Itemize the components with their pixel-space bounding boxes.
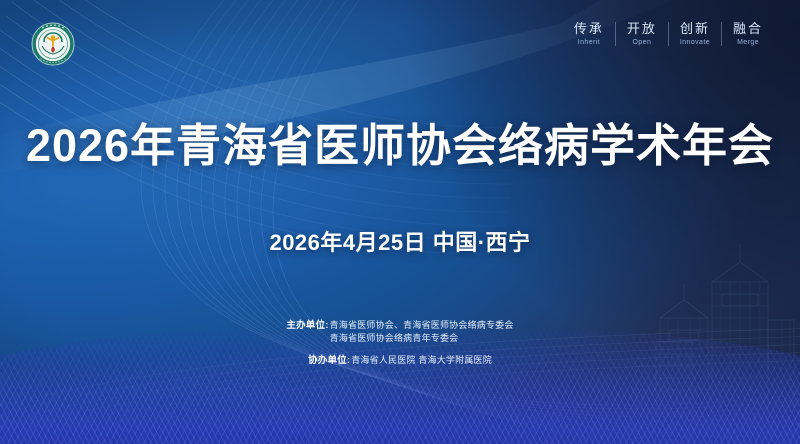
slogan-item-merge: 融合 Merge (721, 22, 774, 46)
slogan-en-open: Open (627, 39, 657, 46)
organizer-value-host-2: 青海省医师协会络病青年专委会 (330, 332, 514, 345)
organizer-value-host-1: 青海省医师协会、青海省医师协会络病专委会 (330, 319, 514, 332)
slogan-item-open: 开放 Open (615, 22, 668, 46)
organizer-value-cohost-1: 青海省人民医院 青海大学附属医院 (351, 354, 492, 367)
slogan-en-inherit: Inherit (574, 39, 604, 46)
organizer-row-cohost: 协办单位: 青海省人民医院 青海大学附属医院 (308, 354, 492, 368)
page-title: 2026年青海省医师协会络病学术年会 (0, 123, 800, 168)
slogan-en-innovate: Innovate (680, 39, 710, 46)
slogan-item-inherit: 传承 Inherit (563, 22, 615, 46)
organizer-label-host: 主办单位: (286, 319, 328, 333)
slogan-group: 传承 Inherit 开放 Open 创新 Innovate 融合 Merge (563, 22, 774, 46)
organizer-block: 主办单位: 青海省医师协会、青海省医师协会络病专委会 青海省医师协会络病青年专委… (0, 319, 800, 368)
slogan-cn-open: 开放 (627, 22, 657, 35)
slogan-item-innovate: 创新 Innovate (668, 22, 721, 46)
slogan-cn-innovate: 创新 (680, 22, 710, 35)
slogan-en-merge: Merge (733, 39, 763, 46)
association-logo (22, 20, 84, 68)
date-location-subtitle: 2026年4月25日 中国·西宁 (0, 232, 800, 254)
slogan-cn-inherit: 传承 (574, 22, 604, 35)
organizer-values-host: 青海省医师协会、青海省医师协会络病专委会 青海省医师协会络病青年专委会 (330, 319, 514, 345)
medical-association-seal-icon (22, 20, 84, 68)
organizer-label-cohost: 协办单位: (308, 354, 350, 368)
conference-banner: 传承 Inherit 开放 Open 创新 Innovate 融合 Merge … (0, 0, 800, 444)
organizer-row-host: 主办单位: 青海省医师协会、青海省医师协会络病专委会 青海省医师协会络病青年专委… (286, 319, 513, 345)
slogan-cn-merge: 融合 (733, 22, 763, 35)
